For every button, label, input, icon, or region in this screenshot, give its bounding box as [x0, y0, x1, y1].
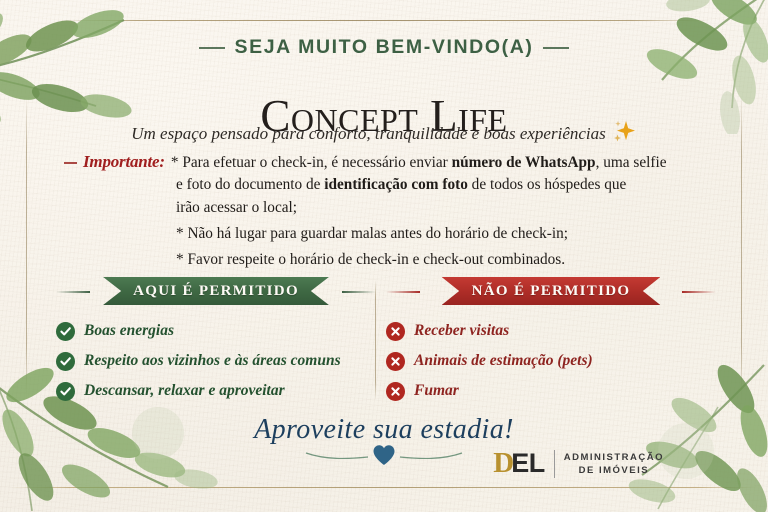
logo-subtitle-line-1: ADMINISTRAÇÃO — [564, 452, 664, 463]
allowed-ribbon-label: AQUI É PERMITIDO — [133, 283, 299, 300]
allowed-item-label: Boas energias — [84, 322, 174, 340]
x-circle-icon — [386, 352, 405, 371]
forbidden-ribbon: NÃO É PERMITIDO — [408, 277, 695, 305]
swirl-left-icon — [304, 451, 370, 459]
important-item-2: * Não há lugar para guardar malas antes … — [176, 223, 716, 245]
check-circle-icon — [56, 382, 75, 401]
logo-subtitle: ADMINISTRAÇÃO DE IMÓVEIS — [564, 452, 664, 476]
allowed-panel: AQUI É PERMITIDO Boas energias Respeito … — [56, 276, 376, 406]
x-circle-icon — [386, 322, 405, 341]
important-label: Importante: — [83, 152, 165, 172]
allowed-item-label: Respeito aos vizinhos e às áreas comuns — [84, 352, 341, 370]
list-item: Boas energias — [56, 316, 376, 346]
check-circle-icon — [56, 322, 75, 341]
list-item: Respeito aos vizinhos e às áreas comuns — [56, 346, 376, 376]
important-line-1-pre: * Para efetuar o check-in, é necessário … — [171, 154, 452, 171]
list-item: Fumar — [386, 376, 716, 406]
important-line-1-bold: número de WhatsApp — [452, 154, 596, 171]
important-line-1: * Para efetuar o check-in, é necessário … — [171, 152, 716, 174]
allowed-list: Boas energias Respeito aos vizinhos e às… — [56, 316, 376, 406]
logo-letters-el: EL — [511, 450, 545, 477]
welcome-banner: SEJA MUITO BEM-VINDO(A) — [0, 36, 768, 59]
important-line-3: irão acessar o local; — [176, 197, 716, 219]
allowed-ribbon: AQUI É PERMITIDO — [69, 277, 363, 305]
important-dash — [64, 162, 77, 164]
forbidden-item-label: Receber visitas — [414, 322, 509, 340]
welcome-text: SEJA MUITO BEM-VINDO(A) — [235, 36, 534, 59]
swirl-right-icon — [398, 451, 464, 459]
company-logo: D EL ADMINISTRAÇÃO DE IMÓVEIS — [493, 449, 664, 478]
heart-icon — [372, 444, 396, 466]
important-notice: Importante: * Para efetuar o check-in, é… — [64, 152, 716, 272]
welcome-dash-left — [199, 47, 225, 49]
subtitle: Um espaço pensado para conforto, tranqui… — [0, 118, 768, 149]
allowed-item-label: Descansar, relaxar e aproveitar — [84, 382, 285, 400]
ribbon-line-left — [386, 291, 420, 293]
welcome-poster: SEJA MUITO BEM-VINDO(A) Concept Life Um … — [0, 0, 768, 512]
important-line-1-post: , uma selfie — [596, 154, 667, 171]
forbidden-item-label: Fumar — [414, 382, 459, 400]
important-item-3: * Favor respeite o horário de check-in e… — [176, 249, 716, 271]
forbidden-item-label: Animais de estimação (pets) — [414, 352, 593, 370]
logo-divider — [554, 450, 555, 478]
forbidden-list: Receber visitas Animais de estimação (pe… — [386, 316, 716, 406]
important-line-2-pre: e foto do documento de — [176, 176, 324, 193]
forbidden-panel: NÃO É PERMITIDO Receber visitas Animais … — [386, 276, 716, 406]
sparkle-icon — [611, 118, 637, 149]
subtitle-text: Um espaço pensado para conforto, tranqui… — [131, 124, 606, 144]
welcome-dash-right — [543, 47, 569, 49]
important-line-2-bold: identificação com foto — [324, 176, 468, 193]
logo-mark: D EL — [493, 449, 544, 478]
list-item: Animais de estimação (pets) — [386, 346, 716, 376]
logo-subtitle-line-2: DE IMÓVEIS — [564, 465, 664, 476]
closing-text: Aproveite sua estadia! — [0, 414, 768, 446]
important-line-2: e foto do documento de identificação com… — [176, 174, 716, 196]
list-item: Receber visitas — [386, 316, 716, 346]
forbidden-ribbon-row: NÃO É PERMITIDO — [386, 276, 716, 306]
list-item: Descansar, relaxar e aproveitar — [56, 376, 376, 406]
x-circle-icon — [386, 382, 405, 401]
forbidden-ribbon-label: NÃO É PERMITIDO — [472, 283, 631, 300]
logo-letter-d: D — [493, 449, 511, 478]
allowed-ribbon-row: AQUI É PERMITIDO — [56, 276, 376, 306]
important-line-2-post: de todos os hóspedes que — [468, 176, 626, 193]
check-circle-icon — [56, 352, 75, 371]
